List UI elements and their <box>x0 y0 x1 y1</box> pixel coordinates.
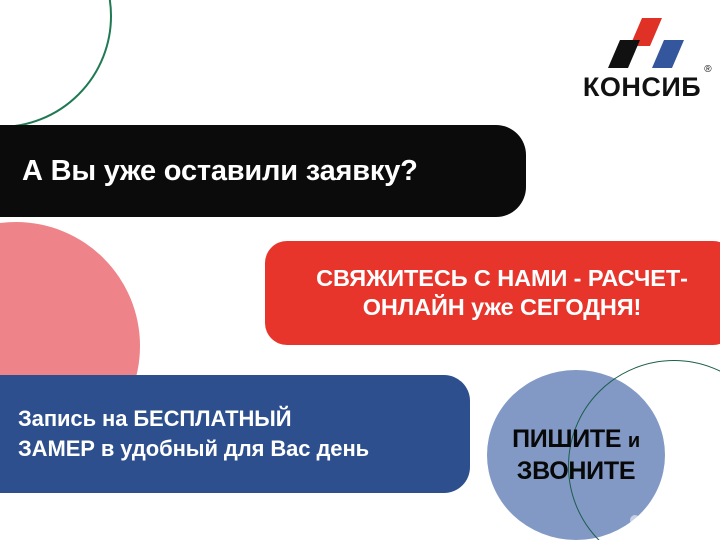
free-measurement-banner: Запись на БЕСПЛАТНЫЙ ЗАМЕР в удобный для… <box>0 375 470 493</box>
contact-line-2-part-2: уже <box>471 294 520 320</box>
logo-wordmark-text: КОНСИБ <box>583 72 701 102</box>
promo-poster: КОНСИБ ® А Вы уже оставили заявку? СВЯЖИ… <box>0 0 720 540</box>
cta-line-1-part-1: ПИШИТЕ <box>512 425 628 453</box>
contact-line-1: СВЯЖИТЕСЬ С НАМИ - РАСЧЕТ- <box>287 264 717 293</box>
headline-banner: А Вы уже оставили заявку? <box>0 125 526 217</box>
green-outline-circle-top-left-icon <box>0 0 112 128</box>
measurement-line-2: ЗАМЕР в удобный для Вас день <box>18 434 450 464</box>
contact-banner: СВЯЖИТЕСЬ С НАМИ - РАСЧЕТ- ОНЛАЙН уже СЕ… <box>265 241 720 345</box>
avito-watermark-text: Avito <box>658 513 712 536</box>
measurement-line-1: Запись на БЕСПЛАТНЫЙ <box>18 404 450 434</box>
brand-logo: КОНСИБ ® <box>576 16 708 101</box>
contact-line-2-part-1: ОНЛАЙН <box>363 294 471 320</box>
registered-trademark-icon: ® <box>704 65 712 75</box>
cta-line-1: ПИШИТЕ и <box>512 423 640 455</box>
konsib-logo-mark-icon <box>588 16 696 72</box>
cta-line-2: ЗВОНИТЕ <box>517 455 635 487</box>
contact-line-2: ОНЛАЙН уже СЕГОДНЯ! <box>287 293 717 322</box>
avito-dots-icon <box>629 514 655 536</box>
headline-text: А Вы уже оставили заявку? <box>22 155 500 188</box>
cta-line-1-part-2: и <box>628 430 640 452</box>
avito-watermark: Avito <box>629 513 712 536</box>
logo-wordmark: КОНСИБ ® <box>583 74 701 101</box>
contact-line-2-part-3: СЕГОДНЯ! <box>520 294 641 320</box>
